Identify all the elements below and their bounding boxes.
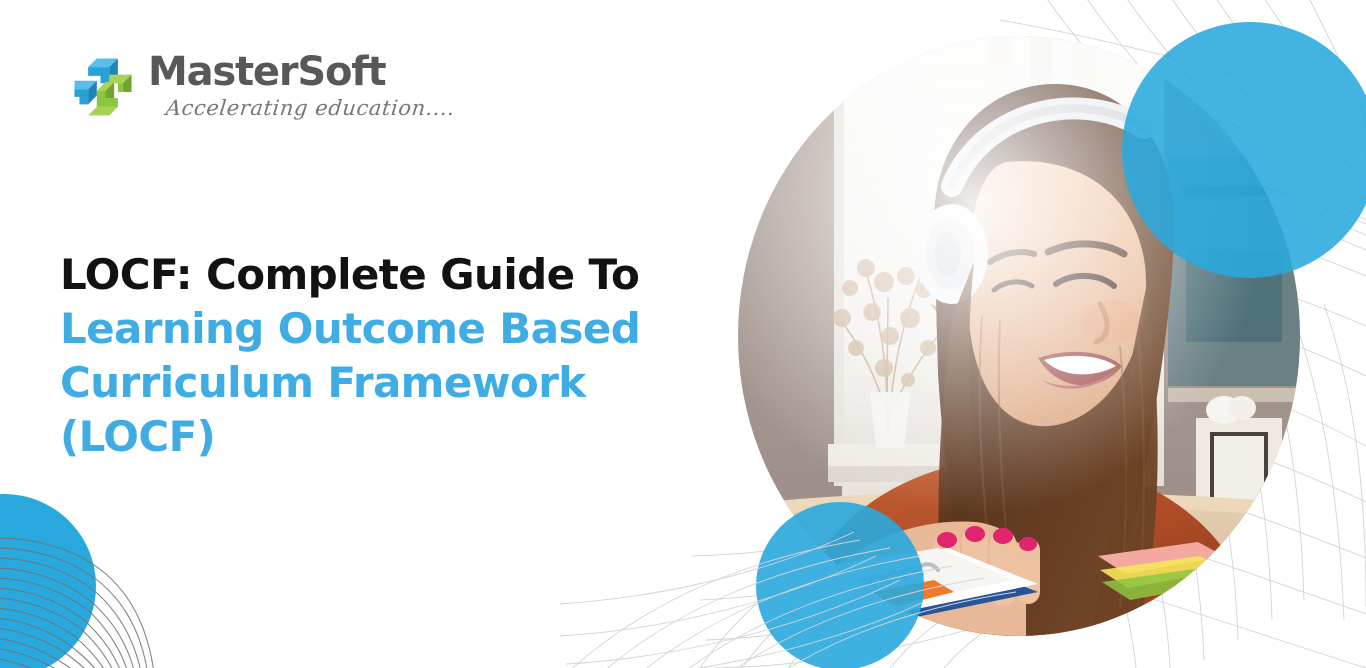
page-title: LOCF: Complete Guide To Learning Outcome… — [60, 248, 700, 464]
headline-line-2: Learning Outcome Based — [60, 302, 700, 356]
bottom-center-accent-circle — [756, 502, 924, 668]
headline-line-1: LOCF: Complete Guide To — [60, 248, 700, 302]
brand-name: MasterSoft — [148, 52, 385, 92]
hero-banner: MasterSoft Accelerating education.... LO… — [0, 0, 1366, 668]
bottom-left-accent-circle — [0, 494, 96, 668]
top-right-accent-circle — [1122, 22, 1366, 278]
brand-lockup: MasterSoft Accelerating education.... — [72, 52, 455, 120]
mastersoft-pinwheel-logo-icon — [72, 56, 134, 118]
headline-line-4: (LOCF) — [60, 410, 700, 464]
brand-tagline: Accelerating education.... — [165, 96, 456, 120]
headline-line-3: Curriculum Framework — [60, 356, 700, 410]
